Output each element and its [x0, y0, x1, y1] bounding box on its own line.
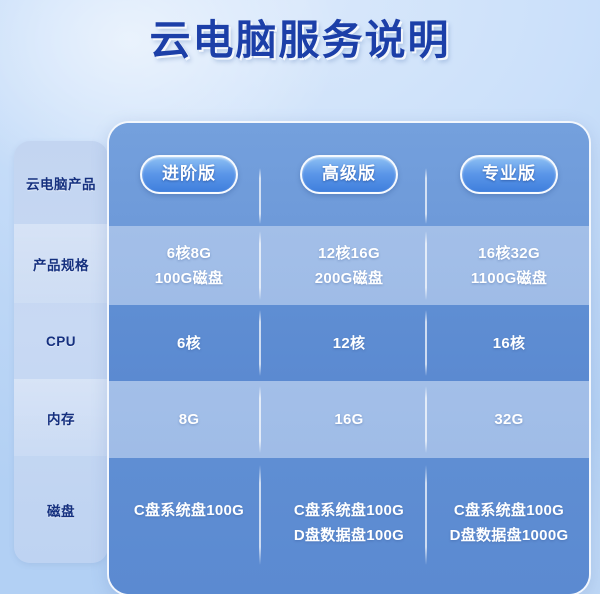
memory-cell-advanced: 16G [269, 381, 429, 458]
spec-professional-line2: 1100G磁盘 [471, 266, 547, 291]
spec-basic-line2: 100G磁盘 [155, 266, 224, 291]
table-row-spec: 6核8G 100G磁盘 12核16G 200G磁盘 16核32G 1100G磁盘 [109, 226, 589, 305]
plan-pill-professional[interactable]: 专业版 [460, 155, 558, 194]
memory-professional-value: 32G [494, 407, 523, 432]
cpu-cell-professional: 16核 [429, 305, 589, 381]
disk-cell-basic: C盘系统盘100G [109, 458, 269, 594]
table-row-memory: 8G 16G 32G [109, 381, 589, 458]
cpu-advanced-value: 12核 [333, 331, 366, 356]
plan-cell-basic: 进阶版 [109, 123, 269, 226]
comparison-table-panel: 进阶版 高级版 专业版 6核8G 100G磁盘 12核16G 200G磁盘 16… [107, 121, 591, 594]
row-label-cpu: CPU [14, 303, 108, 379]
cpu-professional-value: 16核 [493, 331, 526, 356]
disk-professional-line1: C盘系统盘100G [454, 498, 564, 523]
disk-basic-line1: C盘系统盘100G [134, 498, 244, 523]
spec-advanced-line2: 200G磁盘 [315, 266, 384, 291]
spec-basic-line1: 6核8G [167, 241, 212, 266]
row-label-column: 云电脑产品 产品规格 CPU 内存 磁盘 [14, 141, 108, 563]
plan-cell-professional: 专业版 [429, 123, 589, 226]
disk-cell-professional: C盘系统盘100G D盘数据盘1000G [429, 458, 589, 594]
disk-advanced-line2: D盘数据盘100G [294, 523, 404, 548]
page-root: 云电脑服务说明 云电脑产品 产品规格 CPU 内存 磁盘 进阶版 高级版 专业版… [0, 0, 600, 594]
row-label-disk: 磁盘 [14, 456, 108, 563]
disk-professional-line2: D盘数据盘1000G [450, 523, 569, 548]
memory-cell-professional: 32G [429, 381, 589, 458]
plan-pill-basic[interactable]: 进阶版 [140, 155, 238, 194]
row-label-product: 云电脑产品 [14, 141, 108, 224]
spec-professional-line1: 16核32G [478, 241, 540, 266]
row-label-spec: 产品规格 [14, 224, 108, 303]
plan-cell-advanced: 高级版 [269, 123, 429, 226]
disk-cell-advanced: C盘系统盘100G D盘数据盘100G [269, 458, 429, 594]
table-row-disk: C盘系统盘100G C盘系统盘100G D盘数据盘100G C盘系统盘100G … [109, 458, 589, 594]
cpu-basic-value: 6核 [177, 331, 201, 356]
table-row-cpu: 6核 12核 16核 [109, 305, 589, 381]
spec-cell-basic: 6核8G 100G磁盘 [109, 226, 269, 305]
table-row-product: 进阶版 高级版 专业版 [109, 123, 589, 226]
cpu-cell-basic: 6核 [109, 305, 269, 381]
memory-cell-basic: 8G [109, 381, 269, 458]
cpu-cell-advanced: 12核 [269, 305, 429, 381]
memory-basic-value: 8G [179, 407, 200, 432]
spec-advanced-line1: 12核16G [318, 241, 380, 266]
disk-advanced-line1: C盘系统盘100G [294, 498, 404, 523]
plan-pill-advanced[interactable]: 高级版 [300, 155, 398, 194]
spec-cell-advanced: 12核16G 200G磁盘 [269, 226, 429, 305]
memory-advanced-value: 16G [334, 407, 363, 432]
page-title: 云电脑服务说明 [0, 8, 600, 72]
spec-cell-professional: 16核32G 1100G磁盘 [429, 226, 589, 305]
row-label-memory: 内存 [14, 379, 108, 456]
